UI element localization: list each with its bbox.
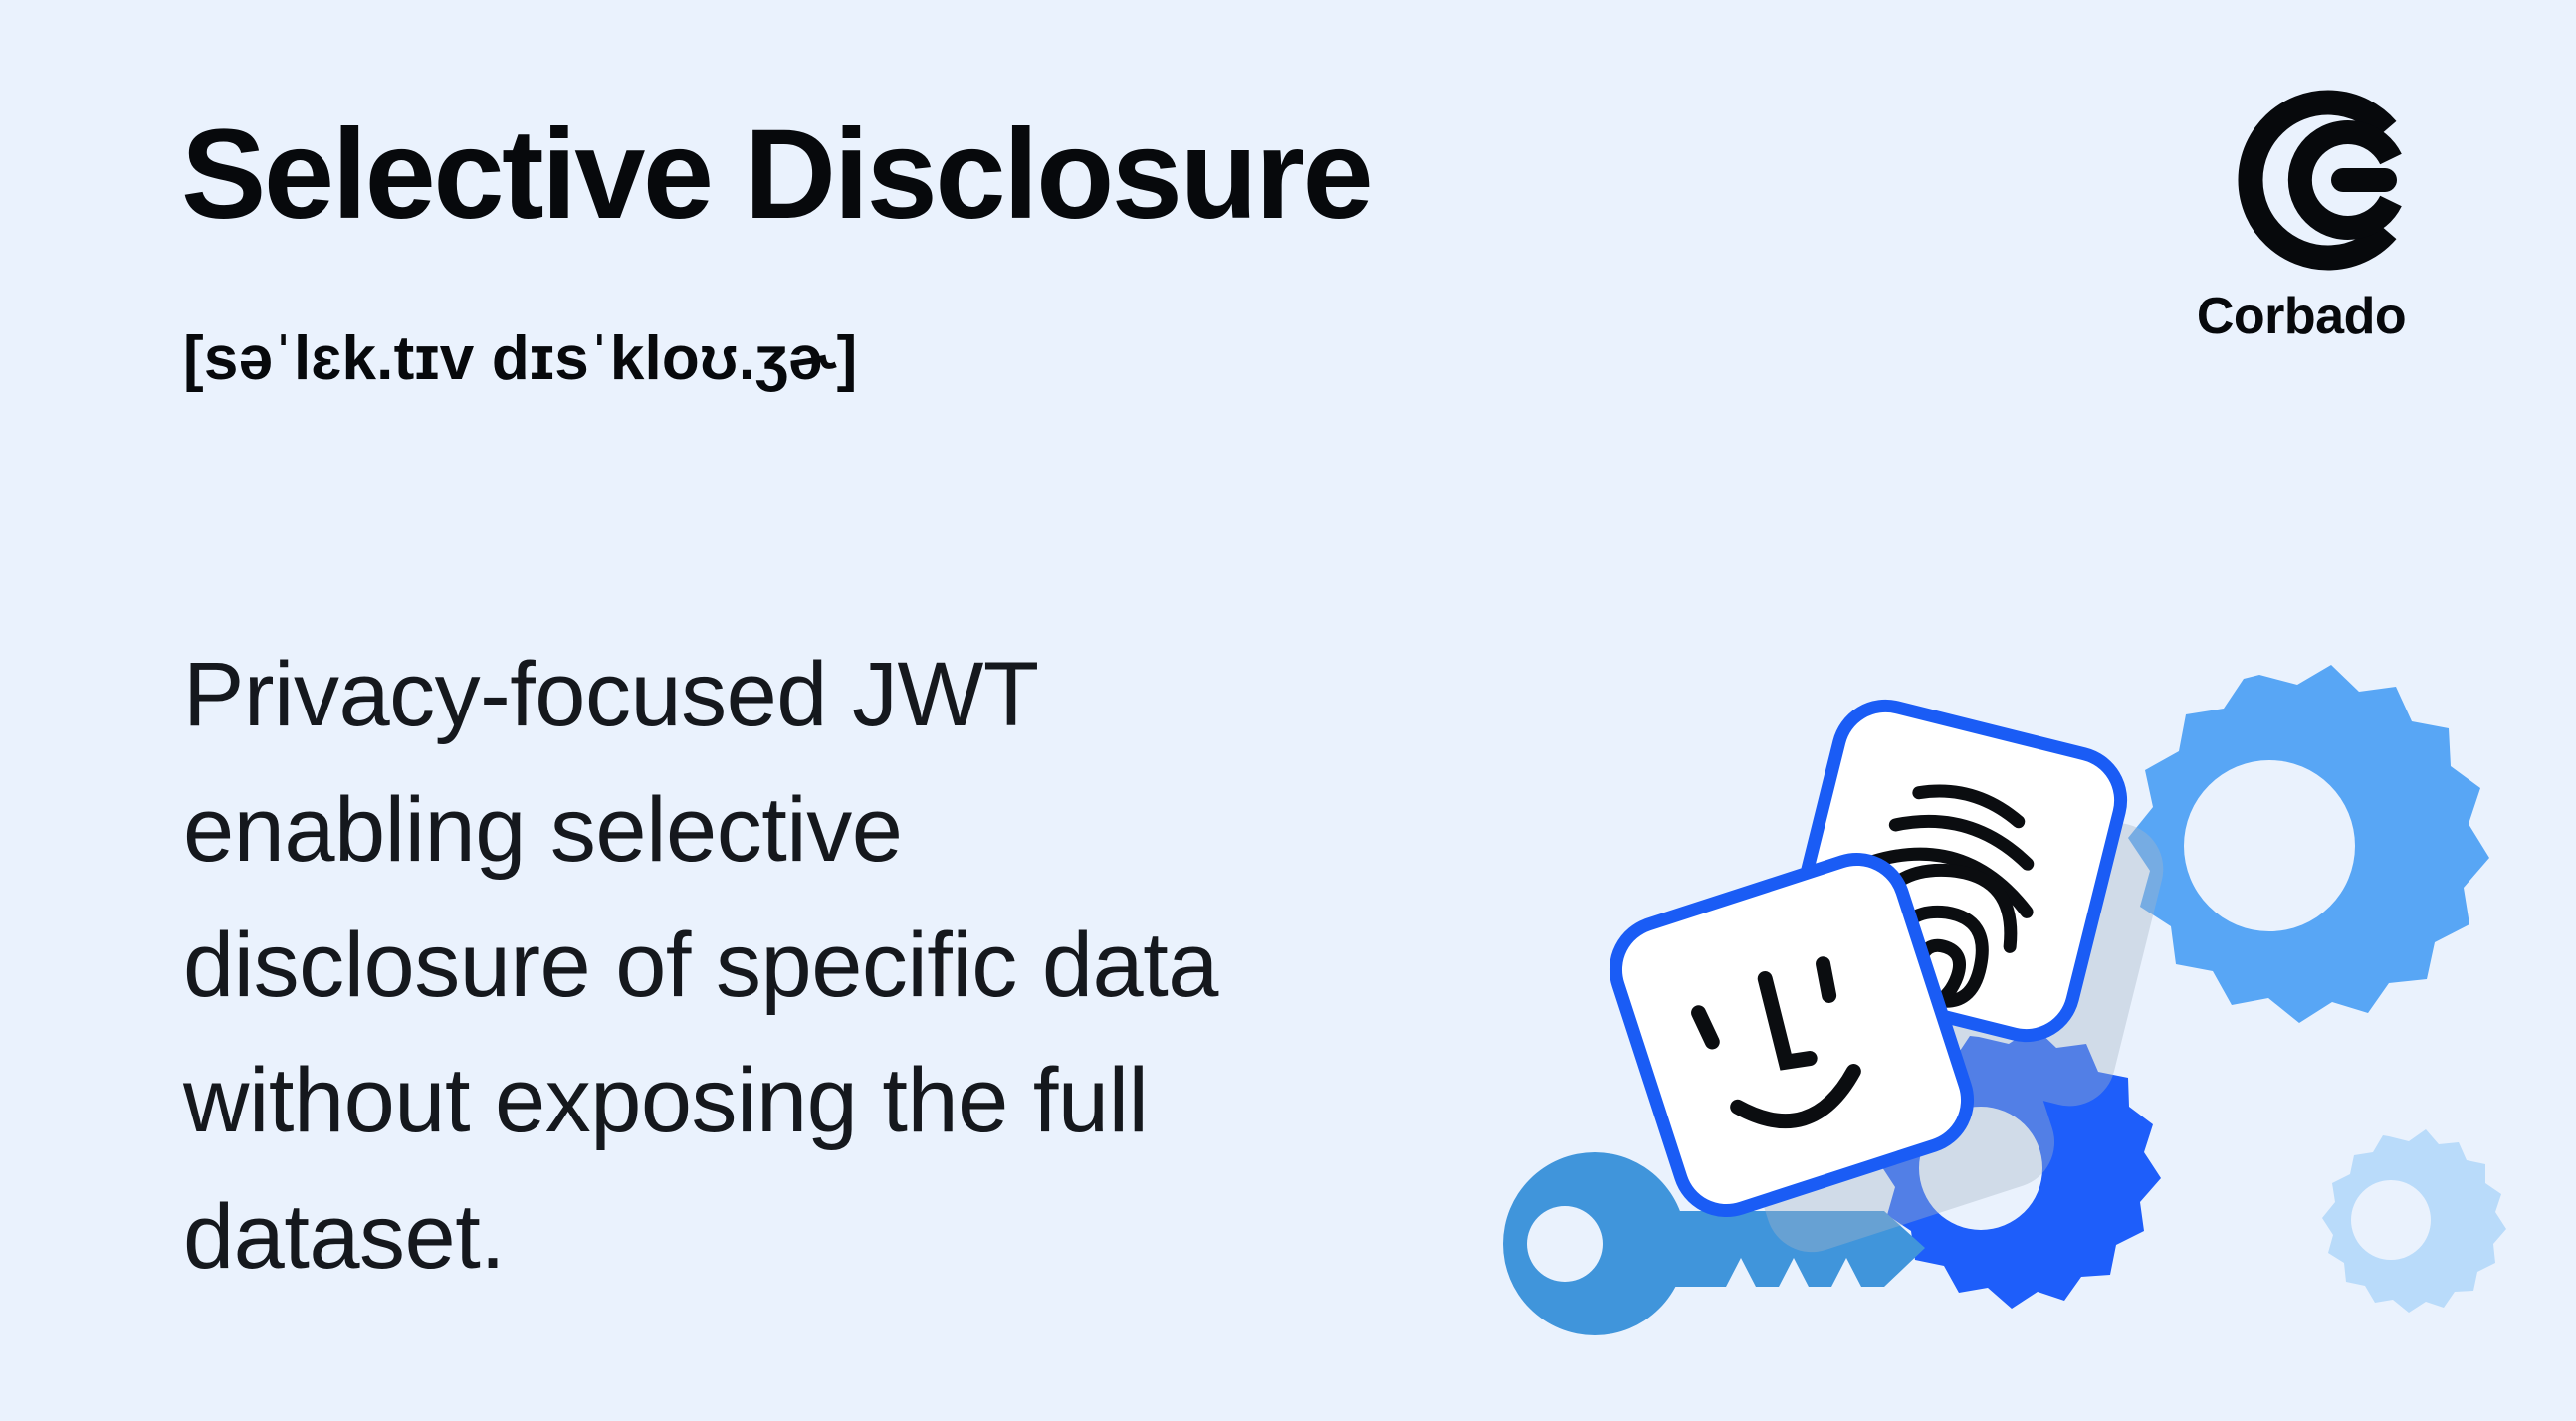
gear-hole: [2184, 760, 2355, 931]
selective-disclosure-card: Selective Disclosure [səˈlɛk.tɪv dɪsˈklo…: [0, 0, 2576, 1421]
brand-name: Corbado: [2197, 291, 2406, 342]
description-text: Privacy-focused JWT enabling selective d…: [183, 627, 1298, 1305]
illustration-graphic: [1394, 637, 2576, 1421]
pronunciation-text: [səˈlɛk.tɪv dɪsˈkloʊ.ʒɚ]: [183, 328, 857, 390]
gear-hole: [2351, 1180, 2431, 1260]
key-hole: [1527, 1206, 1603, 1282]
small-gear: [2322, 1129, 2506, 1313]
brand-logo: Corbado: [2152, 86, 2451, 342]
page-title: Selective Disclosure: [181, 111, 1371, 239]
corbado-c-logo-icon: [2192, 86, 2411, 275]
large-gear: [2128, 665, 2489, 1023]
card-header: Selective Disclosure [səˈlɛk.tɪv dɪsˈklo…: [0, 0, 2576, 468]
